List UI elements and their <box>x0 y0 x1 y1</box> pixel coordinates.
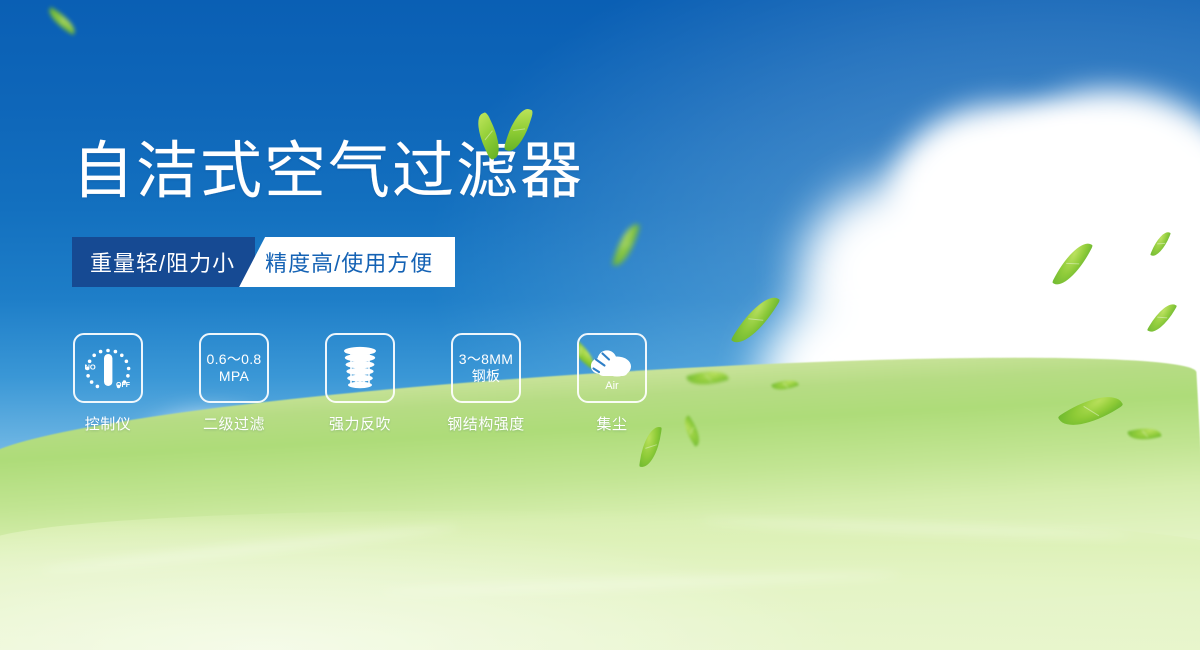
feature-caption: 二级过滤 <box>203 413 265 434</box>
feature-item-control-dial[interactable]: NO OFF 控制仪 <box>72 333 144 434</box>
feature-caption: 强力反吹 <box>329 413 391 434</box>
subtitle-tag-right: 精度高/使用方便 <box>239 237 455 287</box>
pressure-range: 0.6〜0.8 <box>206 351 261 368</box>
steel-thickness: 3〜8MM <box>459 351 513 368</box>
feature-item-steel[interactable]: 3〜8MM 钢板 钢结构强度 <box>450 333 522 434</box>
subtitle-bar: 重量轻/阻力小 精度高/使用方便 <box>72 237 455 287</box>
feature-item-pressure[interactable]: 0.6〜0.8 MPA 二级过滤 <box>198 333 270 434</box>
filter-cartridge-icon <box>325 333 395 403</box>
feature-list: NO OFF 控制仪 0.6〜0.8 MPA 二级过滤 <box>72 333 648 434</box>
pressure-unit: MPA <box>206 368 261 385</box>
title-block: 自洁式空气过滤器 <box>72 140 584 202</box>
steel-plate-icon: 3〜8MM 钢板 <box>451 333 521 403</box>
feature-item-backblow[interactable]: 强力反吹 <box>324 333 396 434</box>
promo-banner: 自洁式空气过滤器 重量轻/阻力小 精度高/使用方便 <box>0 0 1200 650</box>
air-label: Air <box>605 380 619 392</box>
sprout-leaves-icon <box>477 105 547 165</box>
feature-item-dust-collection[interactable]: Air 集尘 <box>576 333 648 434</box>
banner-content: 自洁式空气过滤器 重量轻/阻力小 精度高/使用方便 <box>0 0 1200 650</box>
feature-caption: 控制仪 <box>85 413 132 434</box>
pressure-value-icon: 0.6〜0.8 MPA <box>199 333 269 403</box>
control-dial-icon: NO OFF <box>73 333 143 403</box>
subtitle-tag-left: 重量轻/阻力小 <box>72 237 255 287</box>
steel-material: 钢板 <box>459 368 513 385</box>
dial-label-off: OFF <box>116 382 131 389</box>
air-cloud-icon: Air <box>577 333 647 403</box>
feature-caption: 钢结构强度 <box>447 413 525 434</box>
feature-caption: 集尘 <box>596 413 627 434</box>
dial-label-on: NO <box>85 363 96 372</box>
